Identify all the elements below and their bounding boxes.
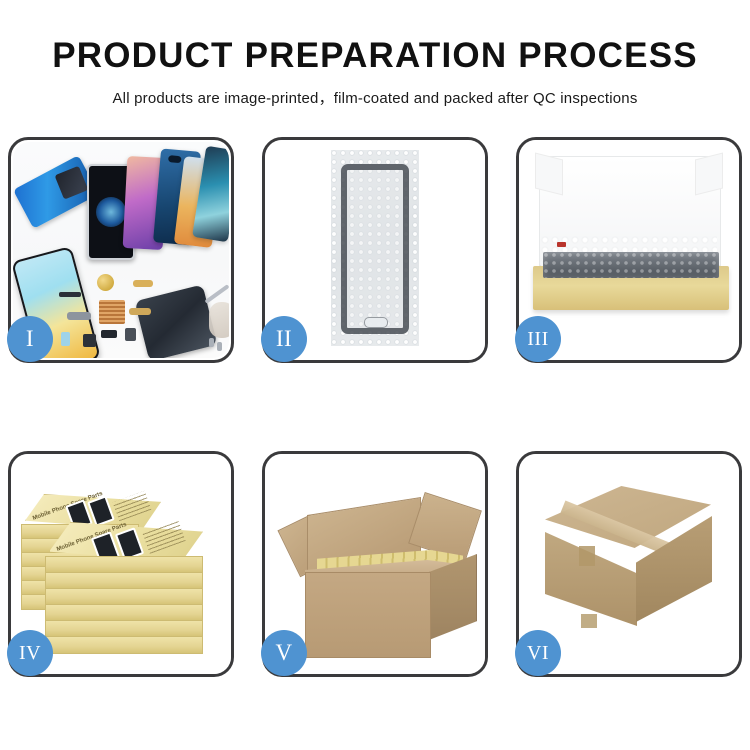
retail-box-front-1 bbox=[45, 556, 203, 573]
part-camera-module bbox=[125, 328, 136, 341]
retail-box-front-2 bbox=[45, 572, 203, 589]
page-header: PRODUCT PREPARATION PROCESS All products… bbox=[0, 0, 750, 108]
disassembled-phone-back bbox=[135, 284, 218, 358]
qc-sticker bbox=[557, 242, 566, 247]
part-chip bbox=[101, 330, 117, 338]
kraft-box-tray bbox=[533, 266, 729, 310]
step-badge-5: V bbox=[261, 630, 307, 676]
part-repair-tool bbox=[204, 284, 229, 304]
page-title: PRODUCT PREPARATION PROCESS bbox=[0, 0, 750, 75]
process-step-panel-3: III bbox=[516, 137, 742, 363]
retail-box-front-5 bbox=[45, 620, 203, 637]
process-step-panel-4: Mobile Phone Spare Parts Mobile Phone Sp… bbox=[8, 451, 234, 677]
step-badge-1: I bbox=[7, 316, 53, 362]
step-badge-3: III bbox=[515, 316, 561, 362]
process-steps-grid: I II III Mobile Phone Spare Parts bbox=[8, 137, 742, 677]
wrapped-screen-in-box bbox=[543, 252, 719, 278]
carton-handle-cutout-top bbox=[579, 546, 595, 566]
process-step-panel-2: II bbox=[262, 137, 488, 363]
retail-box-front-4 bbox=[45, 604, 203, 621]
carton-handle-cutout-bottom bbox=[581, 614, 597, 628]
part-screw-2 bbox=[217, 342, 222, 351]
part-speaker bbox=[83, 334, 96, 347]
process-step-panel-6: VI bbox=[516, 451, 742, 677]
part-wireless-coil bbox=[97, 274, 114, 291]
page-subtitle: All products are image-printed，film-coat… bbox=[0, 75, 750, 108]
box-lid-flap-left bbox=[535, 153, 563, 196]
part-screw-1 bbox=[209, 338, 214, 347]
process-step-panel-1: I bbox=[8, 137, 234, 363]
part-antenna-bar bbox=[59, 292, 81, 297]
part-flex-cable-b bbox=[67, 312, 91, 320]
step-badge-4: IV bbox=[7, 630, 53, 676]
retail-box-front-3 bbox=[45, 588, 203, 605]
process-step-panel-5: V bbox=[262, 451, 488, 677]
part-flex-cable-a bbox=[133, 280, 153, 287]
bubble-wrapped-screen bbox=[331, 150, 419, 346]
part-sim-tray bbox=[61, 332, 70, 346]
step-badge-2: II bbox=[261, 316, 307, 362]
step-badge-6: VI bbox=[515, 630, 561, 676]
retail-box-front-6 bbox=[45, 636, 203, 654]
part-flex-cable-c bbox=[129, 308, 151, 315]
part-copper-grid bbox=[99, 300, 125, 324]
carton-front-panel bbox=[305, 572, 431, 658]
technician-hand bbox=[209, 302, 229, 338]
box-lid-flap-right bbox=[695, 153, 723, 196]
